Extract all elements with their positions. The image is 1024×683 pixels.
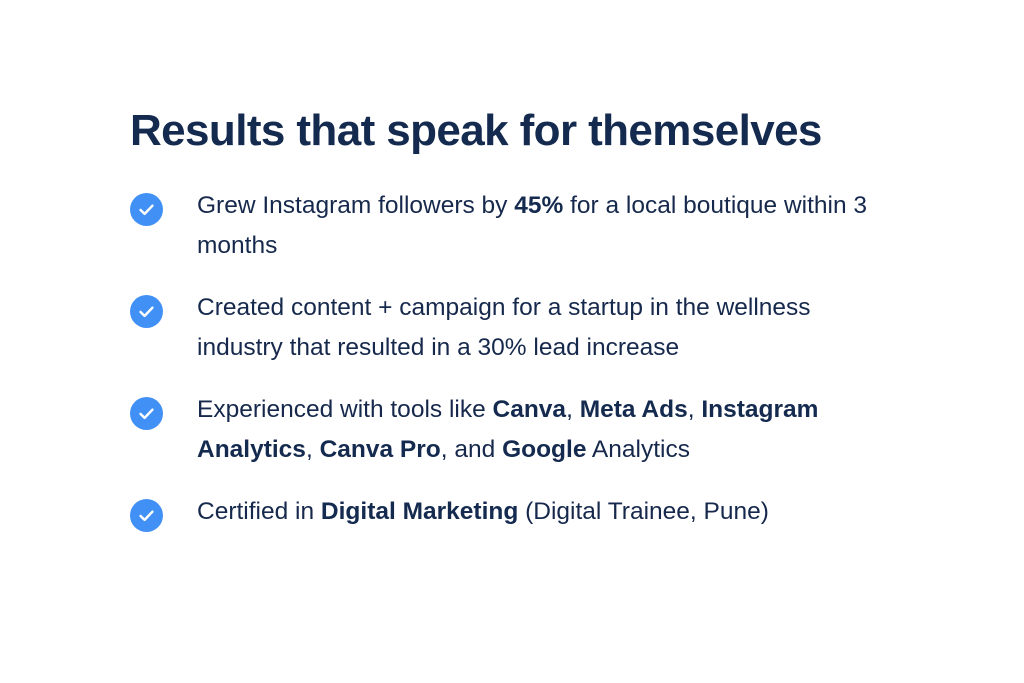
check-circle-icon — [130, 499, 163, 532]
list-item-text: Grew Instagram followers by 45% for a lo… — [197, 186, 897, 266]
list-item: Certified in Digital Marketing (Digital … — [130, 492, 930, 532]
list-item: Experienced with tools like Canva, Meta … — [130, 390, 930, 470]
list-item-text: Created content + campaign for a startup… — [197, 288, 897, 368]
list-item-text: Certified in Digital Marketing (Digital … — [197, 492, 769, 532]
check-circle-icon — [130, 397, 163, 430]
slide-canvas: Results that speak for themselves Grew I… — [0, 0, 1024, 683]
list-item-text: Experienced with tools like Canva, Meta … — [197, 390, 897, 470]
list-item: Created content + campaign for a startup… — [130, 288, 930, 368]
page-title: Results that speak for themselves — [130, 105, 822, 157]
list-item: Grew Instagram followers by 45% for a lo… — [130, 186, 930, 266]
check-circle-icon — [130, 295, 163, 328]
achievements-list: Grew Instagram followers by 45% for a lo… — [130, 186, 930, 532]
check-circle-icon — [130, 193, 163, 226]
